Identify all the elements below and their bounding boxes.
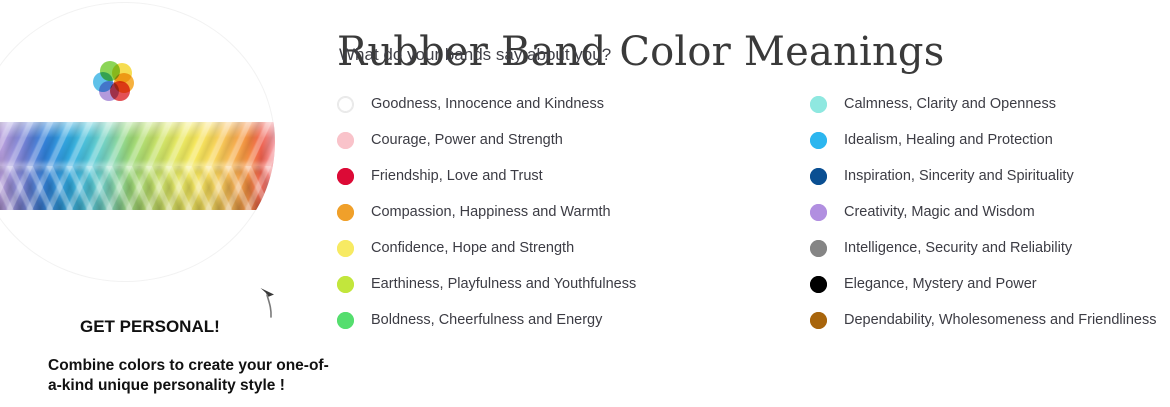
legend-item: Courage, Power and Strength: [337, 122, 636, 158]
legend-item-label: Inspiration, Sincerity and Spirituality: [844, 168, 1074, 184]
legend-item: Inspiration, Sincerity and Spirituality: [810, 158, 1156, 194]
legend-item: Friendship, Love and Trust: [337, 158, 636, 194]
color-swatch-icon: [337, 204, 354, 221]
hero-image: [0, 2, 277, 284]
legend-item-label: Intelligence, Security and Reliability: [844, 240, 1072, 256]
legend-column-left: Goodness, Innocence and KindnessCourage,…: [337, 86, 636, 338]
legend-item-label: Dependability, Wholesomeness and Friendl…: [844, 312, 1156, 328]
arrow-pin-cursor: [258, 286, 284, 320]
legend-item: Dependability, Wholesomeness and Friendl…: [810, 302, 1156, 338]
color-swatch-icon: [810, 276, 827, 293]
legend-item-label: Compassion, Happiness and Warmth: [371, 204, 611, 220]
braid-center-highlight: [0, 163, 275, 170]
page-subtitle: What do your bands say about you?: [339, 45, 611, 65]
legend-item: Idealism, Healing and Protection: [810, 122, 1156, 158]
color-swatch-icon: [810, 96, 827, 113]
legend-item-label: Calmness, Clarity and Openness: [844, 96, 1056, 112]
legend-item: Confidence, Hope and Strength: [337, 230, 636, 266]
legend-item-label: Friendship, Love and Trust: [371, 168, 543, 184]
legend-item-label: Confidence, Hope and Strength: [371, 240, 574, 256]
color-swatch-icon: [337, 168, 354, 185]
legend-item-label: Boldness, Cheerfulness and Energy: [371, 312, 602, 328]
get-personal-heading: GET PERSONAL!: [80, 317, 220, 337]
overlapping-color-circles-logo: [92, 61, 134, 101]
rainbow-bracelet-band: [0, 122, 275, 210]
legend-item: Compassion, Happiness and Warmth: [337, 194, 636, 230]
color-swatch-icon: [810, 204, 827, 221]
color-swatch-icon: [337, 96, 354, 113]
legend-item-label: Goodness, Innocence and Kindness: [371, 96, 604, 112]
color-swatch-icon: [337, 276, 354, 293]
legend-item: Earthiness, Playfulness and Youthfulness: [337, 266, 636, 302]
logo-petal-red: [110, 81, 130, 101]
legend-item: Intelligence, Security and Reliability: [810, 230, 1156, 266]
color-swatch-icon: [810, 168, 827, 185]
color-swatch-icon: [337, 240, 354, 257]
color-swatch-icon: [337, 132, 354, 149]
braid-texture-bottom: [0, 166, 275, 210]
legend-item: Boldness, Cheerfulness and Energy: [337, 302, 636, 338]
color-swatch-icon: [810, 312, 827, 329]
legend-item: Elegance, Mystery and Power: [810, 266, 1156, 302]
legend-item: Goodness, Innocence and Kindness: [337, 86, 636, 122]
color-swatch-icon: [810, 132, 827, 149]
legend-item: Creativity, Magic and Wisdom: [810, 194, 1156, 230]
legend-item-label: Creativity, Magic and Wisdom: [844, 204, 1035, 220]
circular-product-photo: [0, 2, 275, 282]
legend-item-label: Courage, Power and Strength: [371, 132, 563, 148]
legend-column-right: Calmness, Clarity and OpennessIdealism, …: [810, 86, 1156, 338]
legend-item-label: Earthiness, Playfulness and Youthfulness: [371, 276, 636, 292]
legend-item-label: Elegance, Mystery and Power: [844, 276, 1037, 292]
legend-item: Calmness, Clarity and Openness: [810, 86, 1156, 122]
legend-item-label: Idealism, Healing and Protection: [844, 132, 1053, 148]
tagline-text: Combine colors to create your one-of-a-k…: [48, 356, 338, 396]
color-swatch-icon: [337, 312, 354, 329]
color-swatch-icon: [810, 240, 827, 257]
